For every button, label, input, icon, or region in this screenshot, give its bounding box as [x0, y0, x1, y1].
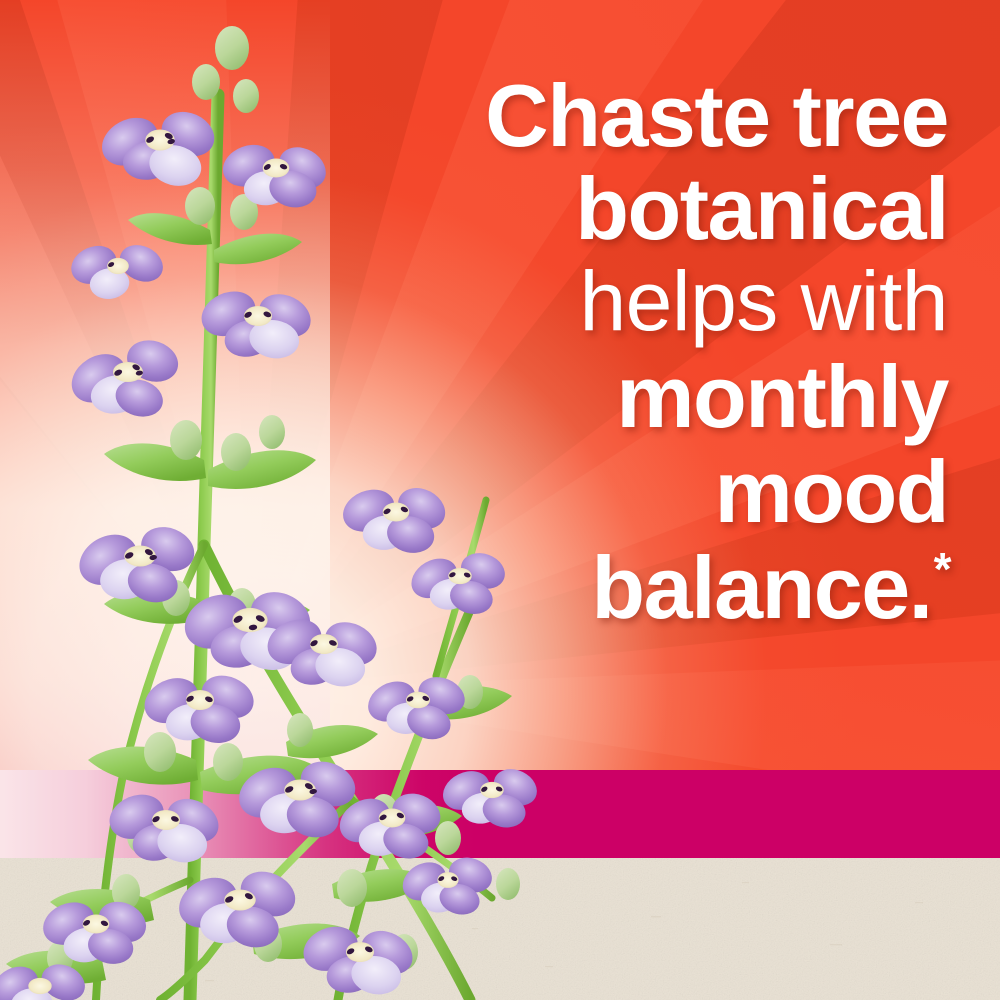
headline-line-helps-with: helps with [388, 260, 948, 343]
magenta-accent-band [0, 770, 1000, 858]
headline-balance-text: balance. [591, 538, 931, 637]
headline-line-chaste-tree: Chaste tree [388, 72, 948, 159]
cream-paper-base [0, 858, 1000, 1000]
paper-texture [0, 858, 1000, 1000]
headline-line-balance: balance.* [388, 544, 948, 631]
footnote-asterisk: * [934, 543, 950, 595]
magenta-band-left-fade [0, 770, 480, 858]
headline-line-botanical: botanical [388, 165, 948, 252]
headline-line-mood: mood [388, 448, 948, 535]
headline-block: Chaste tree botanical helps with monthly… [388, 72, 948, 631]
left-edge-fade [0, 0, 330, 770]
promo-canvas: Chaste tree botanical helps with monthly… [0, 0, 1000, 1000]
headline-line-monthly: monthly [388, 353, 948, 440]
